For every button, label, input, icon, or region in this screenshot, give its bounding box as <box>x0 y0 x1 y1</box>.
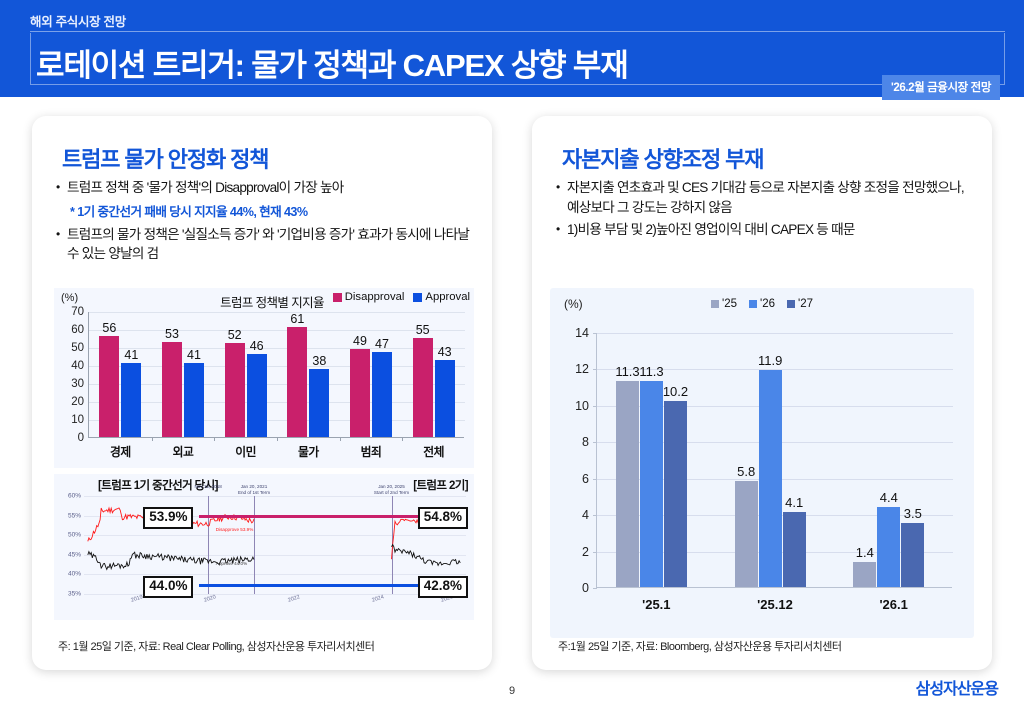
right-footnote: 주:1월 25일 기준, 자료: Bloomberg, 삼성자산운용 투자리서치… <box>558 638 842 654</box>
legend-label: Approval <box>425 291 470 303</box>
bullet-text: 트럼프 정책 중 '물가 정책'의 Disapproval이 가장 높아 <box>67 178 472 198</box>
left-content-card: 트럼프 물가 안정화 정책 • 트럼프 정책 중 '물가 정책'의 Disapp… <box>32 116 492 670</box>
bracket-label-right: [트럼프 2기] <box>413 477 468 493</box>
bar-value-label: 56 <box>102 321 116 335</box>
bar-group: 5641경제 <box>89 311 152 437</box>
bar: 4.4 <box>877 507 900 587</box>
bar: 49 <box>350 349 370 437</box>
axis-tick-mark <box>593 442 597 443</box>
bar-group: 11.311.310.2 <box>616 332 687 587</box>
bullet-text: 트럼프의 물가 정책은 '실질소득 증가' 와 '기업비용 증가' 효과가 동시… <box>67 225 472 264</box>
axis-tick-mark <box>340 437 341 441</box>
bar-value-label: 11.3 <box>639 364 663 379</box>
axis-tick-mark <box>214 437 215 441</box>
header-tag-badge: '26.2월 금융시장 전망 <box>882 75 1000 100</box>
left-card-title: 트럼프 물가 안정화 정책 <box>62 142 268 174</box>
right-bullet-list: • 자본지출 연초효과 및 CES 기대감 등으로 자본지출 상향 조정을 전망… <box>556 178 972 243</box>
axis-tick-mark <box>593 369 597 370</box>
bullet-text: 자본지출 연초효과 및 CES 기대감 등으로 자본지출 상향 조정을 전망했으… <box>567 178 972 217</box>
bar-value-label: 11.3 <box>615 364 639 379</box>
x-axis-category-label: 경제 <box>89 437 152 460</box>
approval-timeseries-chart: [트럼프 1기 중간선거 당시] [트럼프 2기] 35%40%45%50%55… <box>54 474 474 620</box>
axis-tick-mark <box>277 437 278 441</box>
chart-plot-area: 0246810121411.311.310.2'25.15.811.94.1'2… <box>596 333 952 588</box>
bar: 52 <box>225 343 245 437</box>
bar: 43 <box>435 360 455 437</box>
legend-item-disapproval: Disapproval <box>333 291 405 303</box>
event-marker-label: Jan 20, 2021End of 1st Term <box>238 484 270 495</box>
bar: 56 <box>99 336 119 437</box>
bar: 61 <box>287 327 307 437</box>
bar-group: 5.811.94.1 <box>735 332 806 587</box>
bullet-dot-icon: • <box>556 178 567 217</box>
x-axis-tick: 2022 <box>287 594 301 603</box>
bar-value-label: 49 <box>353 334 367 348</box>
bar: 4.1 <box>783 512 806 587</box>
x-axis-category-label: '25.12 <box>716 588 835 612</box>
bar-group: 5543전체 <box>402 311 465 437</box>
right-card-title: 자본지출 상향조정 부재 <box>562 142 763 174</box>
bar: 5.8 <box>735 481 758 587</box>
annotation-box: 53.9% <box>143 507 193 529</box>
axis-tick-mark <box>593 333 597 334</box>
y-axis-tick: 55% <box>68 512 84 519</box>
y-axis-tick: 45% <box>68 551 84 558</box>
annotation-arrow <box>199 584 428 587</box>
bar: 46 <box>247 354 267 437</box>
legend-swatch <box>711 300 719 308</box>
y-axis-tick: 35% <box>68 591 84 598</box>
y-axis-tick: 50% <box>68 532 84 539</box>
left-subnote: * 1기 중간선거 패배 당시 지지율 44%, 현재 43% <box>56 201 472 220</box>
capex-growth-chart: (%) '25 '26 '27 0246810121411.311.310.2'… <box>550 288 974 638</box>
y-axis-tick: 20 <box>71 396 89 408</box>
x-axis-tick: 2024 <box>371 594 385 603</box>
bar: 38 <box>309 369 329 437</box>
legend-label: '25 <box>722 298 737 310</box>
breadcrumb: 해외 주식시장 전망 <box>30 11 126 30</box>
y-axis-tick: 30 <box>71 378 89 390</box>
bullet-dot-icon: • <box>56 178 67 198</box>
legend-item-approval: Approval <box>413 291 470 303</box>
bar: 41 <box>184 363 204 437</box>
x-axis-category-label: 외교 <box>152 437 215 460</box>
legend-label: Disapproval <box>345 291 405 303</box>
bar: 10.2 <box>664 401 687 587</box>
slide-header: 해외 주식시장 전망 로테이션 트리거: 물가 정책과 CAPEX 상향 부재 … <box>0 0 1024 97</box>
annotation-box: 44.0% <box>143 576 193 598</box>
x-axis-tick: 2020 <box>203 594 217 603</box>
bar-value-label: 4.1 <box>785 495 803 510</box>
x-axis-category-label: 전체 <box>402 437 465 460</box>
bar-value-label: 53 <box>165 327 179 341</box>
bar: 41 <box>121 363 141 437</box>
list-item: • 트럼프의 물가 정책은 '실질소득 증가' 와 '기업비용 증가' 효과가 … <box>56 225 472 264</box>
left-bullet-list: • 트럼프 정책 중 '물가 정책'의 Disapproval이 가장 높아 *… <box>56 178 472 267</box>
legend-item-26: '26 <box>749 298 775 310</box>
bar: 11.3 <box>616 381 639 587</box>
left-footnote: 주: 1월 25일 기준, 자료: Real Clear Polling, 삼성… <box>58 638 374 654</box>
legend-swatch <box>333 293 342 302</box>
bar-value-label: 41 <box>187 348 201 362</box>
bar-value-label: 5.8 <box>737 464 755 479</box>
bar: 11.9 <box>759 370 782 587</box>
bar-value-label: 55 <box>416 323 430 337</box>
event-marker-label: Nov 12, 2018 <box>194 484 221 490</box>
axis-tick-mark <box>593 479 597 480</box>
series-inline-label: Disapprove 53.9% <box>216 527 254 532</box>
annotation-box: 54.8% <box>418 507 468 529</box>
y-axis-tick: 60 <box>71 324 89 336</box>
legend-swatch <box>749 300 757 308</box>
bar-value-label: 1.4 <box>856 545 874 560</box>
bar-group: 6138물가 <box>277 311 340 437</box>
bar-group: 5341외교 <box>152 311 215 437</box>
y-axis-tick: 50 <box>71 342 89 354</box>
legend-item-25: '25 <box>711 298 737 310</box>
bar-value-label: 43 <box>438 345 452 359</box>
event-marker-label: Jan 20, 2025Start of 2nd Term <box>374 484 409 495</box>
page-number: 9 <box>0 685 1024 697</box>
x-axis-tick: 2019 <box>131 594 145 603</box>
bar-value-label: 4.4 <box>880 490 898 505</box>
chart-legend: Disapproval Approval <box>333 291 470 303</box>
series-line <box>84 496 466 594</box>
y-axis-tick: 10 <box>71 414 89 426</box>
page-title: 로테이션 트리거: 물가 정책과 CAPEX 상향 부재 <box>36 40 628 85</box>
legend-label: '27 <box>798 298 813 310</box>
x-axis-category-label: 범죄 <box>340 437 403 460</box>
axis-tick-mark <box>402 437 403 441</box>
brand-logo: 삼성자산운용 <box>916 675 998 699</box>
bar: 1.4 <box>853 562 876 588</box>
bar-value-label: 10.2 <box>663 384 688 399</box>
axis-tick-mark <box>593 552 597 553</box>
list-item: • 트럼프 정책 중 '물가 정책'의 Disapproval이 가장 높아 <box>56 178 472 198</box>
bar-value-label: 11.9 <box>758 353 782 368</box>
approval-by-policy-chart: (%) 트럼프 정책별 지지율 Disapproval Approval 010… <box>54 288 474 468</box>
bar-group: 5246이민 <box>214 311 277 437</box>
annotation-arrow <box>199 515 428 518</box>
bar-value-label: 46 <box>250 339 264 353</box>
bar-group: 4947범죄 <box>340 311 403 437</box>
axis-tick-mark <box>152 437 153 441</box>
right-content-card: 자본지출 상향조정 부재 • 자본지출 연초효과 및 CES 기대감 등으로 자… <box>532 116 992 670</box>
y-axis-tick: 70 <box>71 306 89 318</box>
bar-value-label: 41 <box>124 348 138 362</box>
bar: 55 <box>413 338 433 437</box>
bullet-text: 1)비용 부담 및 2)높아진 영업이익 대비 CAPEX 등 때문 <box>567 220 972 240</box>
bar-group: 1.44.43.5 <box>853 332 924 587</box>
bar-value-label: 38 <box>312 354 326 368</box>
chart-plot-area: 0102030405060705641경제5341외교5246이민6138물가4… <box>88 312 464 438</box>
list-item: • 자본지출 연초효과 및 CES 기대감 등으로 자본지출 상향 조정을 전망… <box>556 178 972 217</box>
bar-value-label: 3.5 <box>904 506 922 521</box>
axis-tick-mark <box>593 406 597 407</box>
bar: 3.5 <box>901 523 924 587</box>
y-axis-tick: 60% <box>68 493 84 500</box>
annotation-box: 42.8% <box>418 576 468 598</box>
bar-value-label: 52 <box>228 328 242 342</box>
bullet-dot-icon: • <box>556 220 567 240</box>
bar: 53 <box>162 342 182 437</box>
bar: 11.3 <box>640 381 663 587</box>
bar-value-label: 47 <box>375 337 389 351</box>
legend-swatch <box>413 293 422 302</box>
legend-swatch <box>787 300 795 308</box>
bullet-dot-icon: • <box>56 225 67 264</box>
bar: 47 <box>372 352 392 437</box>
y-axis-tick: 40 <box>71 360 89 372</box>
line-plot-area: 35%40%45%50%55%60%20192020202220242026No… <box>84 496 466 594</box>
x-axis-category-label: 이민 <box>214 437 277 460</box>
x-axis-category-label: 물가 <box>277 437 340 460</box>
y-axis-tick: 40% <box>68 571 84 578</box>
list-item: • 1)비용 부담 및 2)높아진 영업이익 대비 CAPEX 등 때문 <box>556 220 972 240</box>
legend-label: '26 <box>760 298 775 310</box>
bar-value-label: 61 <box>290 312 304 326</box>
header-divider <box>30 31 1005 32</box>
axis-tick-mark <box>593 515 597 516</box>
x-axis-category-label: '26.1 <box>834 588 953 612</box>
y-axis-tick: 0 <box>78 432 89 444</box>
legend-item-27: '27 <box>787 298 813 310</box>
series-inline-label: Approve 44.0% <box>216 561 247 566</box>
x-axis-category-label: '25.1 <box>597 588 716 612</box>
chart-legend: '25 '26 '27 <box>550 298 974 310</box>
